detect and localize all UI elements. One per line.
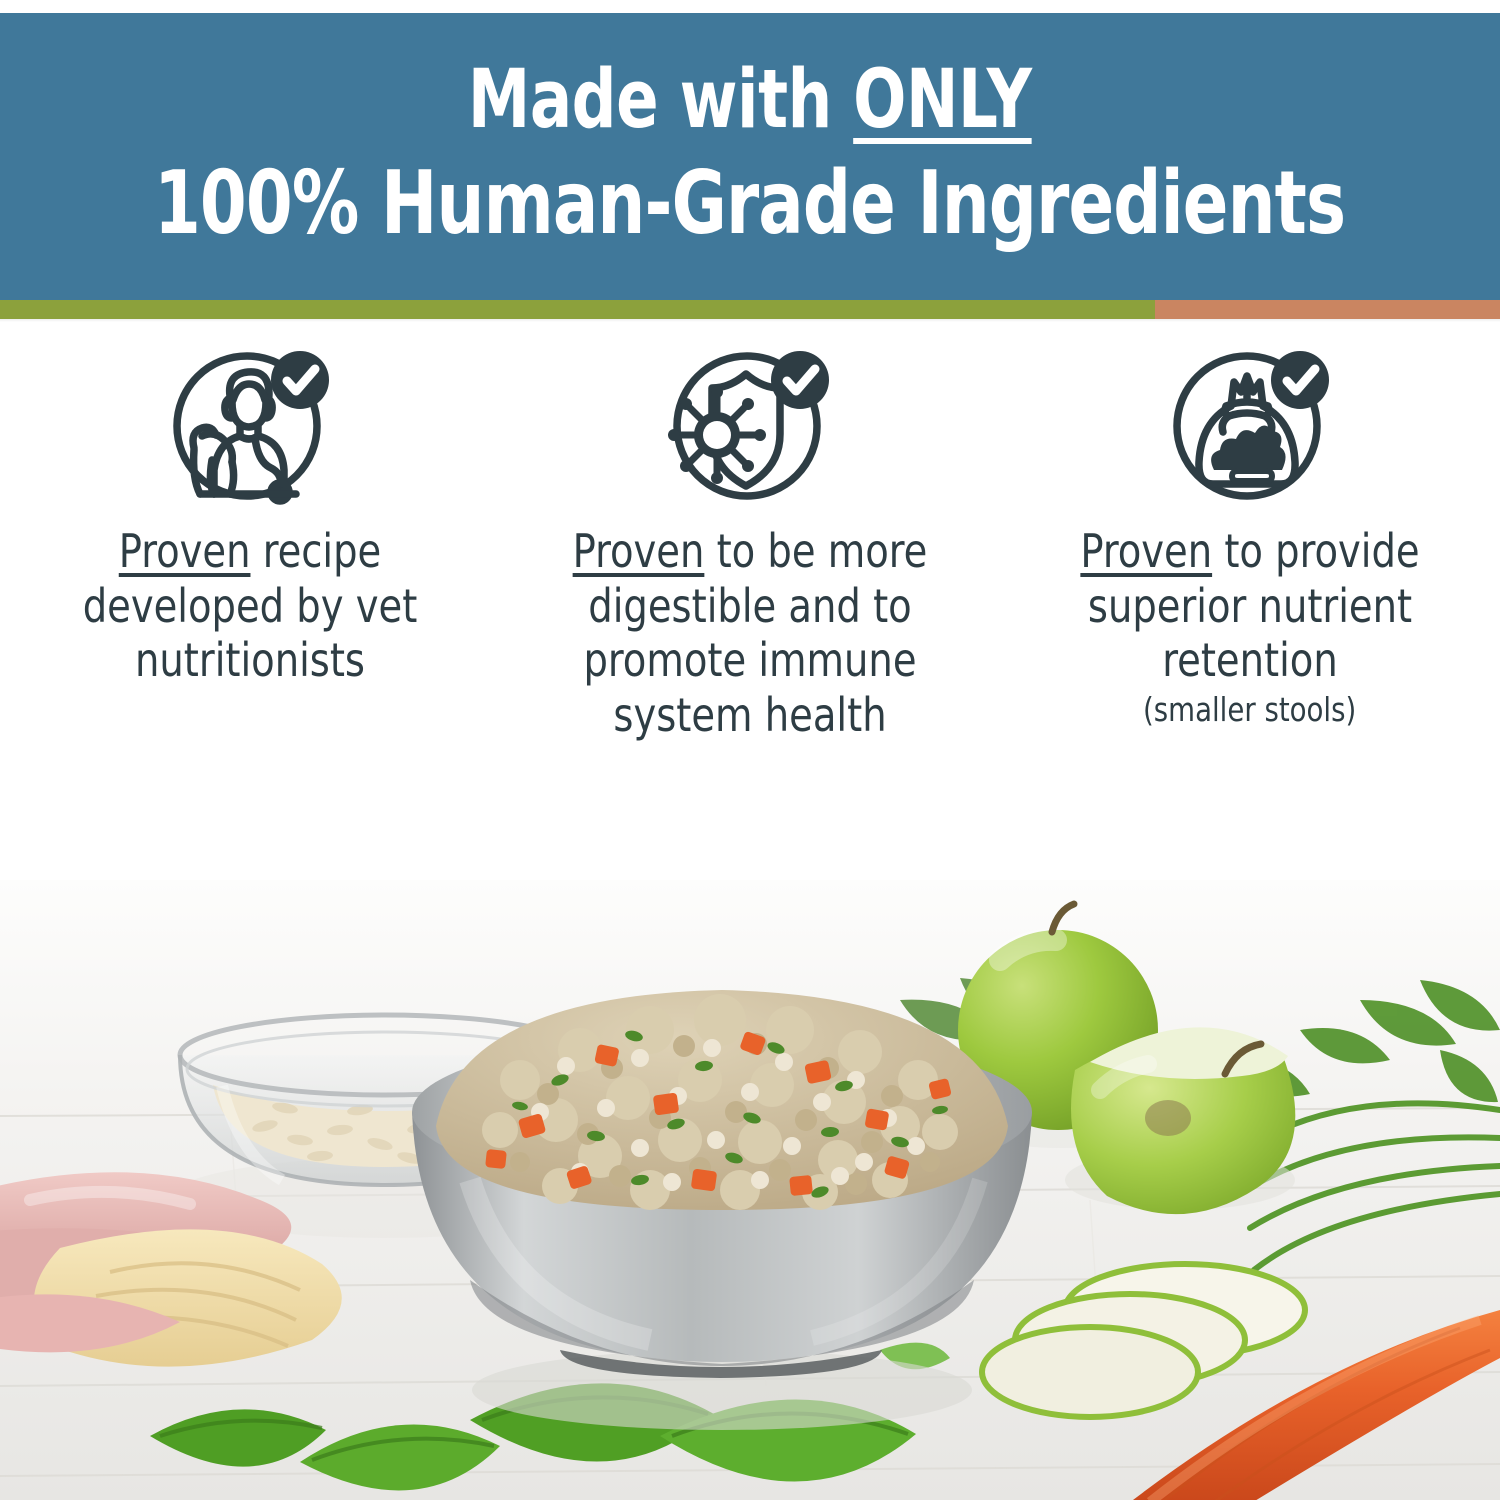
accent-bar-orange xyxy=(1155,300,1500,319)
feature-2-text: Proven to be more digestible and to prom… xyxy=(550,524,950,743)
header-banner: Made with ONLY 100% Human-Grade Ingredie… xyxy=(0,13,1500,300)
ingredients-photo-svg xyxy=(0,880,1500,1500)
feature-2-underlined: Proven xyxy=(573,524,705,578)
header-line-2: 100% Human-Grade Ingredients xyxy=(154,159,1345,248)
feature-1-underlined: Proven xyxy=(119,524,251,578)
waste-bag-check-icon xyxy=(1160,330,1340,520)
shield-virus-check-icon xyxy=(660,330,840,520)
accent-bar-shadow xyxy=(0,319,1500,322)
promo-banner: Made with ONLY 100% Human-Grade Ingredie… xyxy=(0,0,1500,1500)
header-line-1: Made with ONLY xyxy=(468,59,1032,142)
feature-item-nutrient-retention: Proven to provide superior nutrient rete… xyxy=(1000,330,1500,890)
ingredients-photo xyxy=(0,880,1500,1500)
feature-1-text: Proven recipe developed by vet nutrition… xyxy=(50,524,450,688)
feature-3-underlined: Proven xyxy=(1080,524,1212,578)
top-white-strip xyxy=(0,0,1500,13)
feature-row: Proven recipe developed by vet nutrition… xyxy=(0,330,1500,890)
header-line-1-underlined: ONLY xyxy=(853,53,1031,147)
feature-item-vet-recipe: Proven recipe developed by vet nutrition… xyxy=(0,330,500,890)
vet-with-dog-check-icon xyxy=(160,330,340,520)
feature-3-text: Proven to provide superior nutrient rete… xyxy=(1050,524,1450,688)
feature-item-digestible: Proven to be more digestible and to prom… xyxy=(500,330,1000,890)
accent-bar xyxy=(0,300,1500,319)
accent-bar-green xyxy=(0,300,1155,319)
header-line-1-prefix: Made with xyxy=(468,53,853,147)
feature-3-subtext: (smaller stools) xyxy=(1143,690,1356,730)
